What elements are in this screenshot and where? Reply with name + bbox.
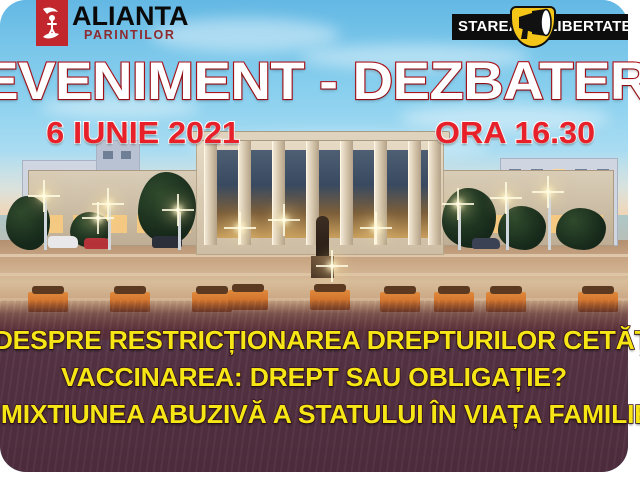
topic-list: DESPRE RESTRICȚIONAREA DREPTURILOR CETĂȚ… xyxy=(0,322,628,433)
car xyxy=(472,238,500,249)
topic-line: DESPRE RESTRICȚIONAREA DREPTURILOR CETĂȚ… xyxy=(0,322,634,359)
tree xyxy=(138,172,196,244)
poster-root: ALIANTA PARINTILOR STAREA DE LIBERTATE E… xyxy=(0,0,640,480)
theatre-column xyxy=(340,141,353,245)
lamp-flare xyxy=(238,226,242,230)
lamp-flare xyxy=(504,196,508,200)
event-time: ORA 16.30 xyxy=(435,116,595,150)
logo-title: ALIANTA xyxy=(72,2,188,30)
lamp-flare xyxy=(546,190,550,194)
tree xyxy=(556,208,606,250)
hands-cradling-child-icon xyxy=(36,0,68,46)
theatre-column xyxy=(204,141,217,245)
lamp-flare xyxy=(456,202,460,206)
theatre-column xyxy=(408,141,421,245)
theatre-column xyxy=(428,141,441,245)
alianta-parintilor-logo[interactable]: ALIANTA PARINTILOR xyxy=(8,0,188,46)
logo-word-2: LIBERTATE xyxy=(548,15,632,39)
topic-line: VACCINAREA: DREPT SAU OBLIGAȚIE? xyxy=(0,359,634,396)
lamp-flare xyxy=(42,194,46,198)
car xyxy=(84,238,110,249)
lamp-flare xyxy=(96,216,100,220)
lamp-flare xyxy=(282,218,286,222)
topic-line: IMIXTIUNEA ABUZIVĂ A STATULUI ÎN VIAȚA F… xyxy=(0,396,634,433)
lamp-flare xyxy=(330,264,334,268)
page-title: EVENIMENT - DEZBATERE xyxy=(0,53,640,111)
lamp-flare xyxy=(176,208,180,212)
lamp-flare xyxy=(374,226,378,230)
lamp-flare xyxy=(106,202,110,206)
bronze-statue xyxy=(316,216,329,258)
starea-de-libertate-logo[interactable]: STAREA DE LIBERTATE xyxy=(452,6,628,48)
megaphone-shield-icon xyxy=(510,6,556,48)
event-date: 6 IUNIE 2021 xyxy=(46,116,240,150)
car xyxy=(48,236,78,248)
logo-subtitle: PARINTILOR xyxy=(84,29,175,42)
